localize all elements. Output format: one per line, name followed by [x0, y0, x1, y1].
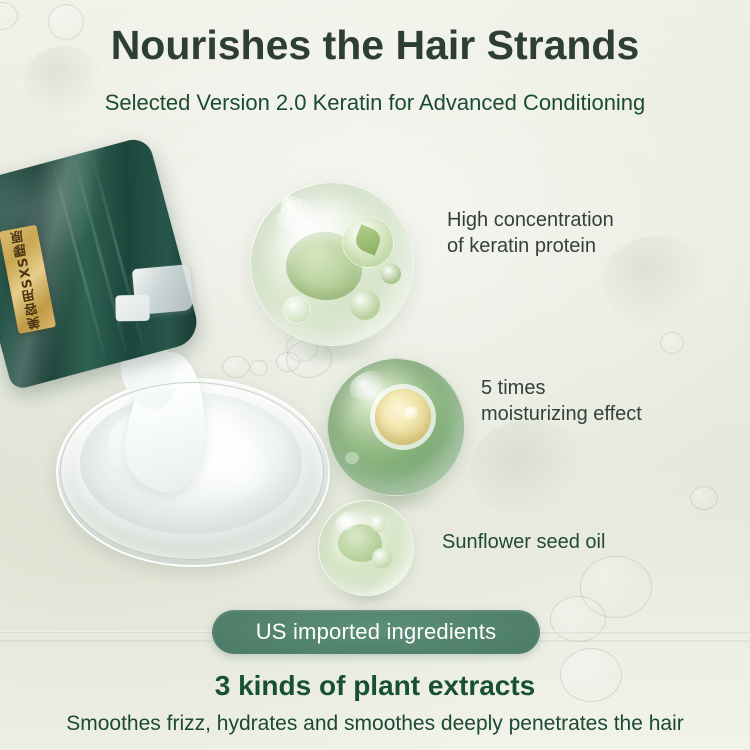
page-title: Nourishes the Hair Strands: [0, 22, 750, 69]
feature-label-moisture: 5 times moisturizing effect: [481, 375, 642, 428]
footer-title: 3 kinds of plant extracts: [0, 670, 750, 702]
bubble-core: [375, 389, 431, 445]
product-marketing-poster: 美容用SXS膠原 Nourishes the Hair Strands Sele…: [0, 0, 750, 750]
background-blot: [470, 420, 590, 520]
pouch-label-text: 美容用SXS膠原: [11, 228, 44, 330]
footer-subtitle: Smoothes frizz, hydrates and smoothes de…: [0, 712, 750, 736]
pouch-cap: [115, 295, 149, 322]
background-ring-watermark: [250, 360, 268, 376]
background-ring-watermark: [222, 356, 250, 378]
background-ring-watermark: [660, 332, 684, 354]
bubble-core-highlight: [404, 406, 418, 420]
background-ring-watermark: [690, 486, 718, 510]
bubble-inner-dot: [350, 290, 380, 320]
bubble-inner-dot: [381, 264, 401, 284]
feature-label-keratin: High concentration of keratin protein: [447, 207, 614, 260]
badge-label: US imported ingredients: [256, 619, 497, 645]
bubble-inner-dot: [283, 296, 311, 324]
bubble-inner-dot: [370, 516, 386, 532]
bubble-inner-dot: [345, 452, 359, 464]
page-subtitle: Selected Version 2.0 Keratin for Advance…: [0, 90, 750, 116]
feature-label-sunflower: Sunflower seed oil: [442, 529, 605, 555]
background-blot: [602, 236, 712, 326]
imported-ingredients-badge: US imported ingredients: [212, 610, 540, 654]
bubble-inner-dot: [372, 548, 392, 568]
petri-dish-rim: [60, 382, 324, 560]
background-ring-watermark: [550, 596, 606, 642]
